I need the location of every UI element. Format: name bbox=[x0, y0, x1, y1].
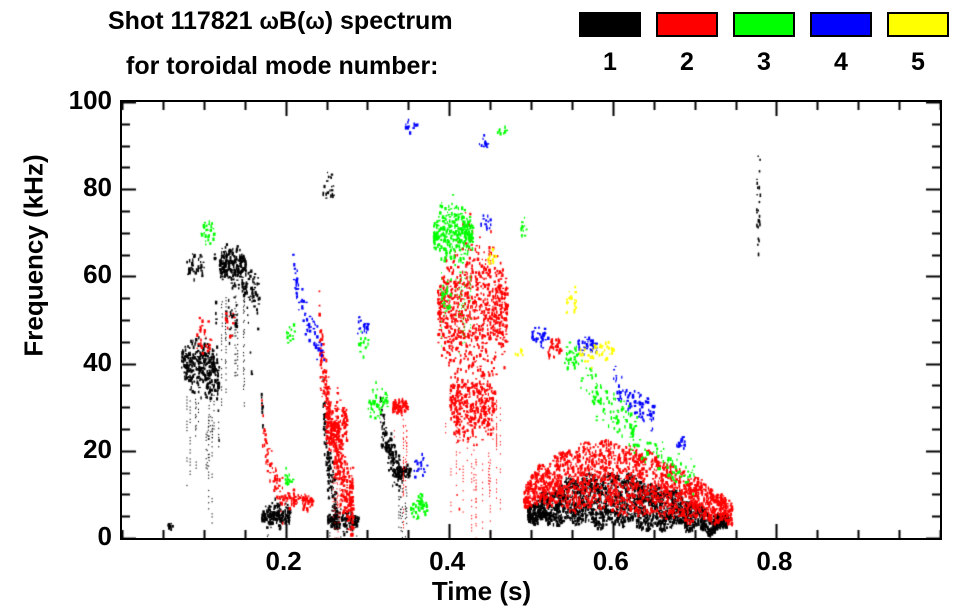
y-tick-label-80: 80 bbox=[0, 174, 112, 200]
x-tick-label-0.2: 0.2 bbox=[239, 548, 329, 574]
y-tick-label-20: 20 bbox=[0, 436, 112, 462]
x-axis-label: Time (s) bbox=[0, 576, 963, 607]
x-tick-label-0.6: 0.6 bbox=[566, 548, 656, 574]
plot-container: 020406080100 0.20.40.60.8 Frequency (kHz… bbox=[0, 0, 963, 615]
y-axis-label: Frequency (kHz) bbox=[19, 56, 50, 456]
y-tick-label-100: 100 bbox=[0, 87, 112, 113]
y-tick-label-0: 0 bbox=[0, 523, 112, 549]
plot-frame[interactable] bbox=[120, 100, 942, 540]
x-tick-label-0.4: 0.4 bbox=[402, 548, 492, 574]
spectrogram-canvas bbox=[122, 102, 940, 538]
y-tick-label-40: 40 bbox=[0, 349, 112, 375]
x-tick-label-0.8: 0.8 bbox=[729, 548, 819, 574]
y-tick-label-60: 60 bbox=[0, 261, 112, 287]
